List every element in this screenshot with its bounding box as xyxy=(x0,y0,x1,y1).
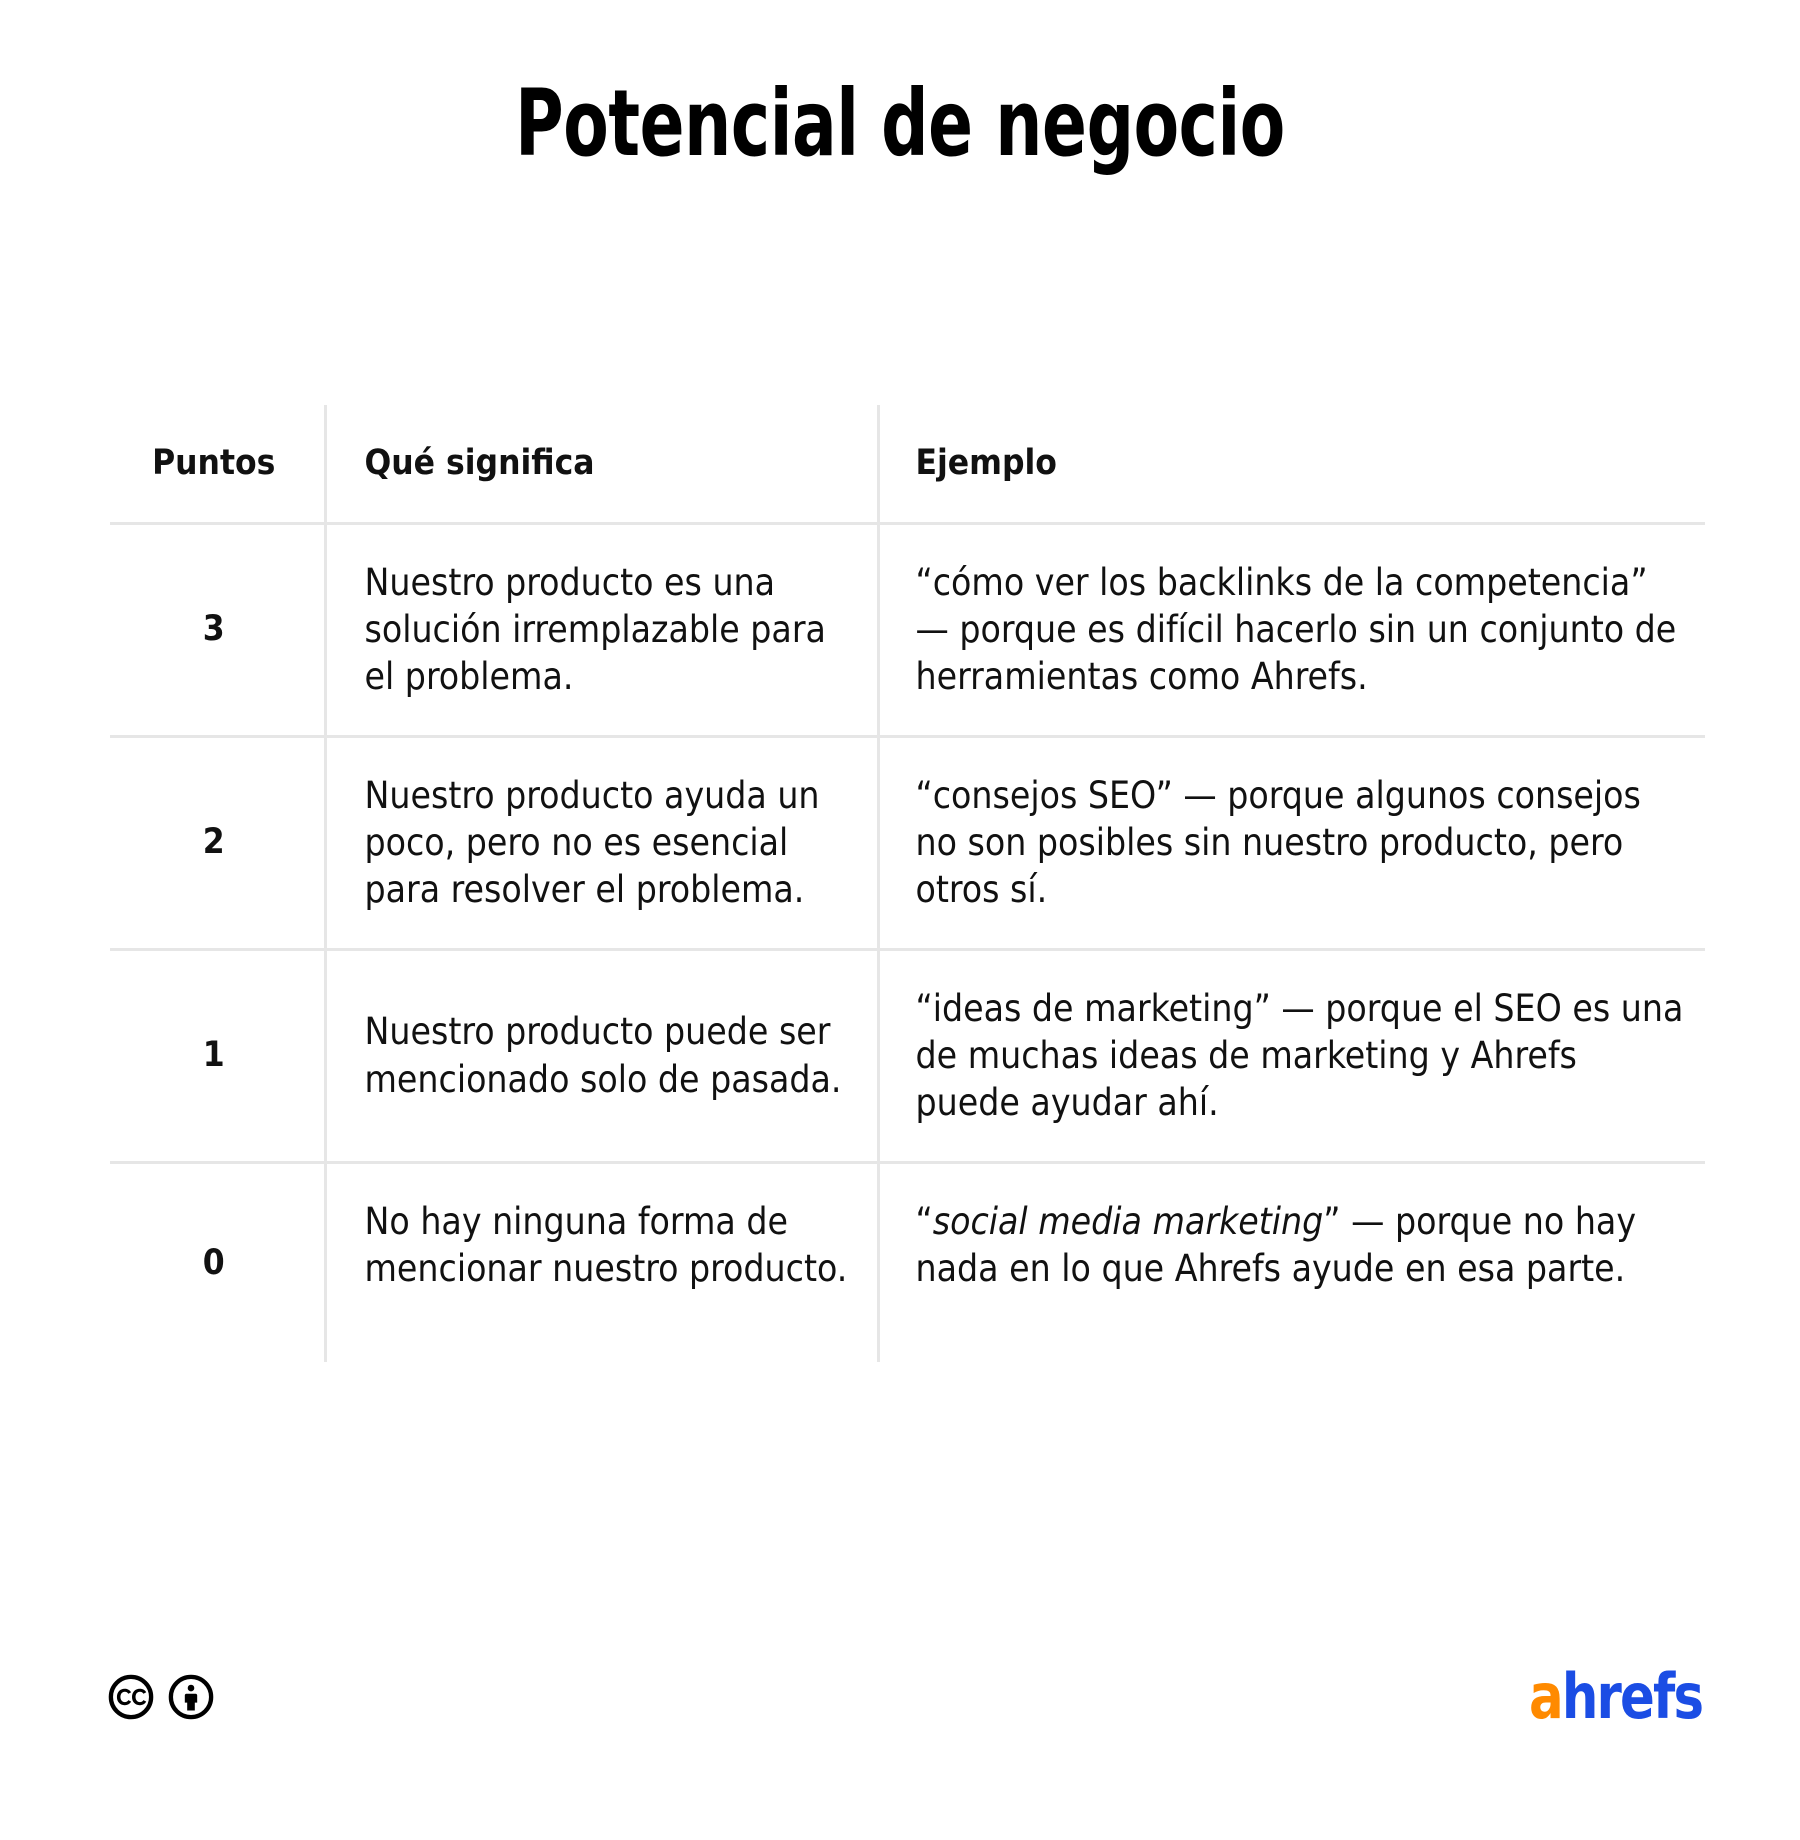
cell-points: 3 xyxy=(110,523,325,736)
example-prefix: “ xyxy=(916,1200,933,1243)
business-potential-table: Puntos Qué significa Ejemplo 3 Nuestro p… xyxy=(110,405,1705,1362)
table-row: 1 Nuestro producto puede ser mencionado … xyxy=(110,949,1705,1162)
example-prefix: “cómo ver los backlinks de la competenci… xyxy=(916,561,1648,604)
cell-example: “ideas de marketing” — porque el SEO es … xyxy=(878,949,1705,1162)
column-header-que-significa: Qué significa xyxy=(325,405,878,523)
example-text: “cómo ver los backlinks de la competenci… xyxy=(916,559,1686,701)
cell-meaning: Nuestro producto ayuda un poco, pero no … xyxy=(325,736,878,949)
meaning-text: No hay ninguna forma de mencionar nuestr… xyxy=(365,1198,863,1293)
scoring-table-container: Puntos Qué significa Ejemplo 3 Nuestro p… xyxy=(110,405,1705,1362)
cell-points: 2 xyxy=(110,736,325,949)
example-prefix: “ideas de marketing” xyxy=(916,987,1271,1030)
table-row: 3 Nuestro producto es una solución irrem… xyxy=(110,523,1705,736)
column-header-ejemplo: Ejemplo xyxy=(878,405,1705,523)
license-icons xyxy=(108,1674,214,1720)
cell-points: 0 xyxy=(110,1162,325,1362)
footer: ahrefs xyxy=(0,1660,1800,1770)
ahrefs-logo: ahrefs xyxy=(1529,1666,1702,1728)
cell-meaning: Nuestro producto es una solución irrempl… xyxy=(325,523,878,736)
meaning-text: Nuestro producto es una solución irrempl… xyxy=(365,559,863,701)
example-text: “consejos SEO” — porque algunos consejos… xyxy=(916,772,1686,914)
meaning-text: Nuestro producto ayuda un poco, pero no … xyxy=(365,772,863,914)
creative-commons-icon xyxy=(108,1674,154,1720)
logo-accent-letter: a xyxy=(1529,1660,1562,1733)
example-text: “ideas de marketing” — porque el SEO es … xyxy=(916,985,1686,1127)
table-body: 3 Nuestro producto es una solución irrem… xyxy=(110,523,1705,1362)
table-header-row: Puntos Qué significa Ejemplo xyxy=(110,405,1705,523)
example-text: “social media marketing” — porque no hay… xyxy=(916,1198,1686,1293)
example-prefix: “consejos SEO” xyxy=(916,774,1173,817)
meaning-text: Nuestro producto puede ser mencionado so… xyxy=(365,1008,863,1103)
table-row: 2 Nuestro producto ayuda un poco, pero n… xyxy=(110,736,1705,949)
cell-points: 1 xyxy=(110,949,325,1162)
cell-meaning: Nuestro producto puede ser mencionado so… xyxy=(325,949,878,1162)
creative-commons-by-icon xyxy=(168,1674,214,1720)
logo-text: hrefs xyxy=(1562,1660,1702,1733)
cell-example: “social media marketing” — porque no hay… xyxy=(878,1162,1705,1362)
table-row: 0 No hay ninguna forma de mencionar nues… xyxy=(110,1162,1705,1362)
cell-example: “consejos SEO” — porque algunos consejos… xyxy=(878,736,1705,949)
cell-example: “cómo ver los backlinks de la competenci… xyxy=(878,523,1705,736)
cell-meaning: No hay ninguna forma de mencionar nuestr… xyxy=(325,1162,878,1362)
example-italic: social media marketing xyxy=(933,1200,1324,1243)
page-title: Potencial de negocio xyxy=(180,78,1620,170)
example-suffix: — porque es difícil hacerlo sin un conju… xyxy=(916,608,1677,698)
table-header: Puntos Qué significa Ejemplo xyxy=(110,405,1705,523)
column-header-puntos: Puntos xyxy=(110,405,325,523)
